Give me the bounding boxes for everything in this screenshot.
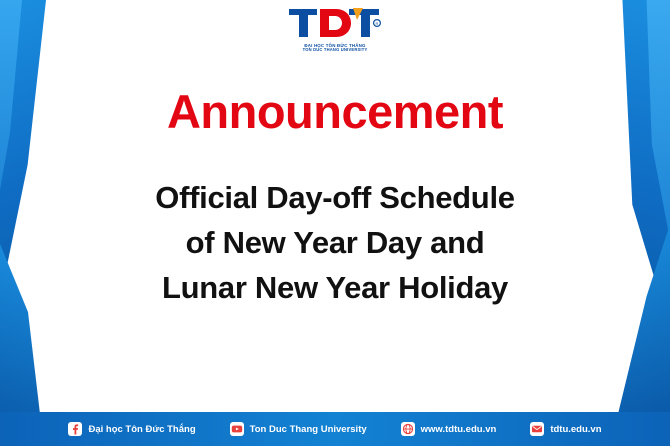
university-logo: R ĐẠI HỌC TÔN ĐỨC THẮNG TON DUC THANG UN…	[0, 6, 670, 53]
subtitle-line-2: of New Year Day and	[0, 221, 670, 266]
subtitle-line-1: Official Day-off Schedule	[0, 176, 670, 221]
footer-item-website[interactable]: www.tdtu.edu.vn	[401, 422, 497, 436]
subtitle-block: Official Day-off Schedule of New Year Da…	[0, 176, 670, 311]
logo-name-en: TON DUC THANG UNIVERSITY	[303, 48, 368, 53]
facebook-icon	[68, 422, 82, 436]
globe-icon	[401, 422, 415, 436]
footer-label-youtube: Ton Duc Thang University	[250, 424, 367, 435]
mail-icon	[530, 422, 544, 436]
youtube-icon	[230, 422, 244, 436]
footer-label-mail: tdtu.edu.vn	[550, 424, 601, 435]
tdtu-logo-icon: R	[287, 6, 383, 42]
footer-label-website: www.tdtu.edu.vn	[421, 424, 497, 435]
poster-canvas: R ĐẠI HỌC TÔN ĐỨC THẮNG TON DUC THANG UN…	[0, 0, 670, 446]
footer-label-facebook: Đại học Tôn Đức Thắng	[88, 424, 195, 435]
footer-item-youtube[interactable]: Ton Duc Thang University	[230, 422, 367, 436]
footer-item-mail[interactable]: tdtu.edu.vn	[530, 422, 601, 436]
logo-wordmark: ĐẠI HỌC TÔN ĐỨC THẮNG TON DUC THANG UNIV…	[303, 43, 368, 53]
subtitle-line-3: Lunar New Year Holiday	[0, 266, 670, 311]
page-title: Announcement	[0, 88, 670, 135]
footer-item-facebook[interactable]: Đại học Tôn Đức Thắng	[68, 422, 195, 436]
footer-bar: Đại học Tôn Đức Thắng Ton Duc Thang Univ…	[0, 412, 670, 446]
svg-text:R: R	[376, 21, 379, 26]
